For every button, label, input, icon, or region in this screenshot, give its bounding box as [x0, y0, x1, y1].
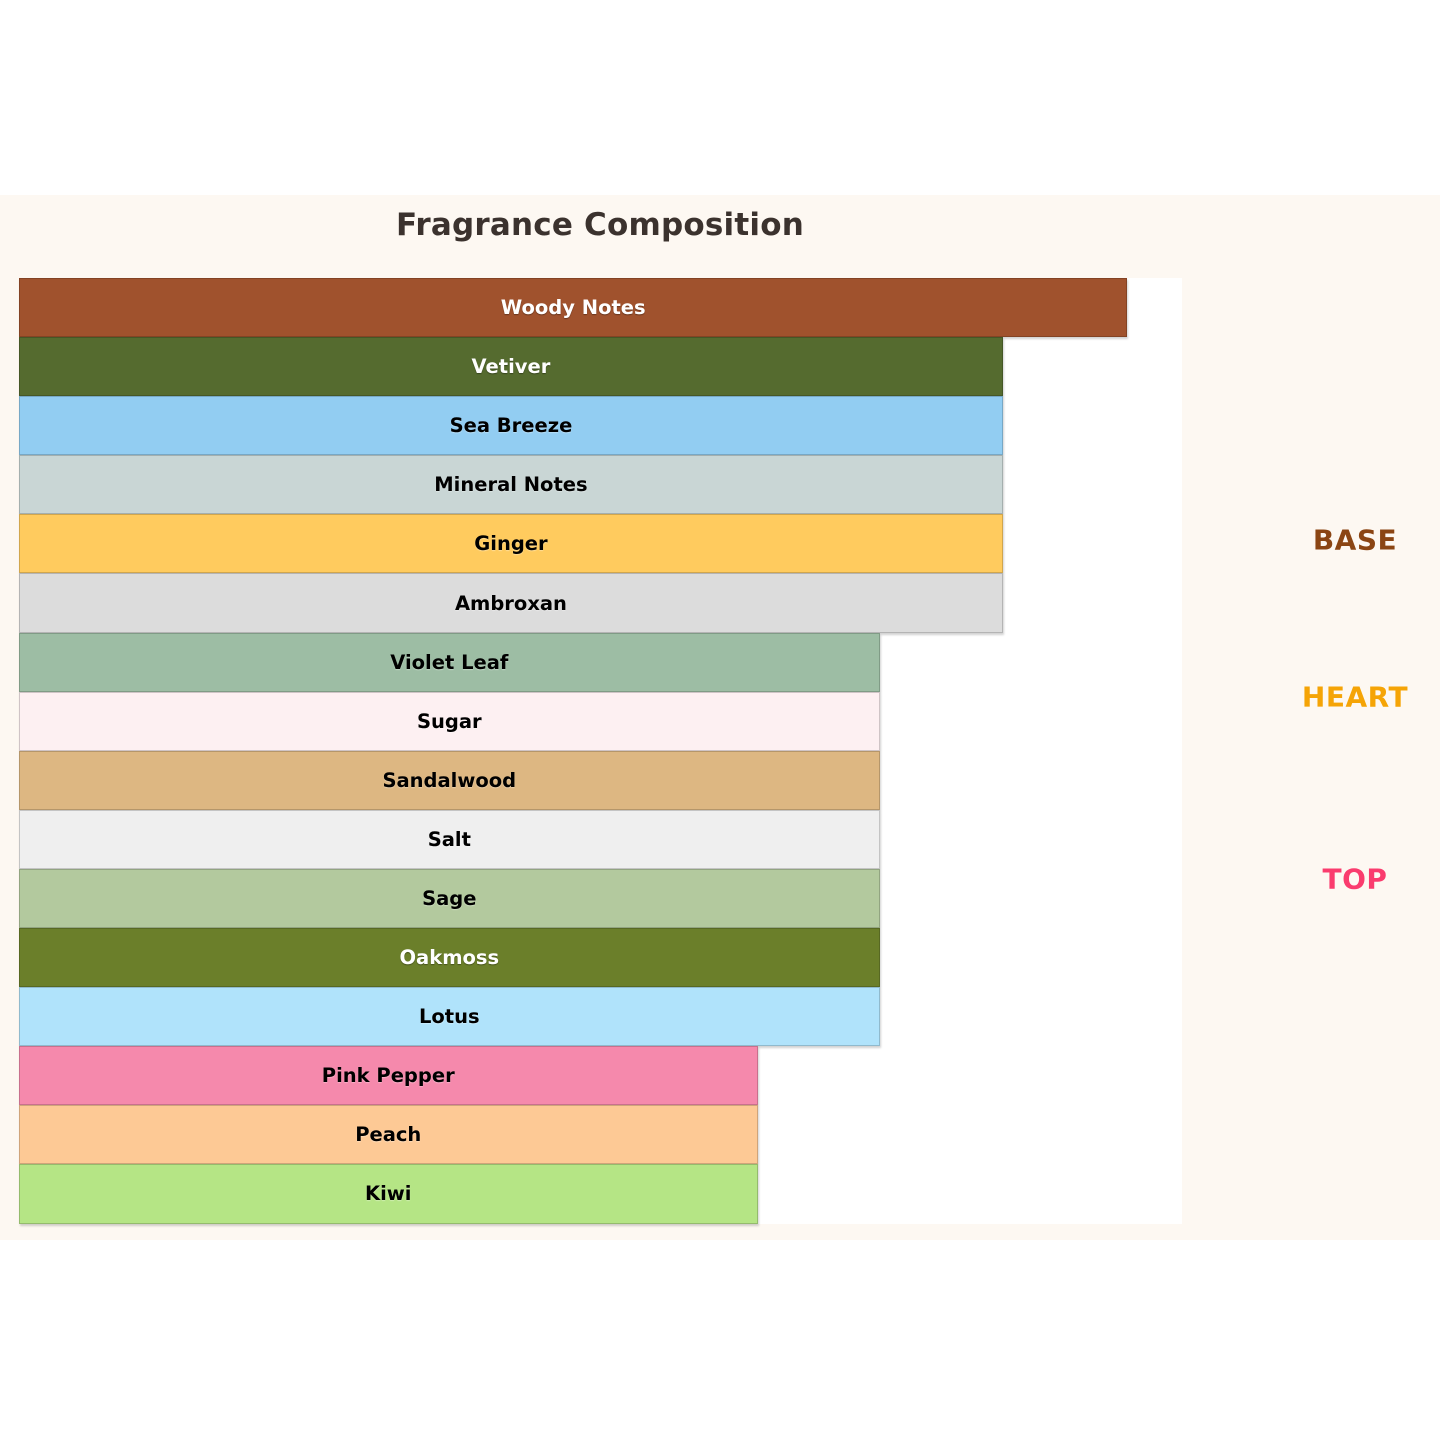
bar-row: Vetiver [19, 337, 1182, 396]
bar-row: Ginger [19, 514, 1182, 573]
bar-mineral-notes[interactable] [19, 455, 1003, 514]
bar-ginger[interactable] [19, 514, 1003, 573]
bar-salt[interactable] [19, 810, 880, 869]
stage-label-base: BASE [1313, 523, 1397, 556]
bar-row: Sugar [19, 692, 1182, 751]
bar-sea-breeze[interactable] [19, 396, 1003, 455]
bar-pink-pepper[interactable] [19, 1046, 758, 1105]
bar-row: Mineral Notes [19, 455, 1182, 514]
bar-sugar[interactable] [19, 692, 880, 751]
bar-woody-notes[interactable] [19, 278, 1127, 337]
bar-ambroxan[interactable] [19, 573, 1003, 632]
bar-oakmoss[interactable] [19, 928, 880, 987]
chart-title: Fragrance Composition [0, 207, 1200, 243]
stage-label-heart: HEART [1302, 680, 1408, 713]
bar-sandalwood[interactable] [19, 751, 880, 810]
bar-kiwi[interactable] [19, 1164, 758, 1223]
bar-row: Salt [19, 810, 1182, 869]
bar-row: Oakmoss [19, 928, 1182, 987]
bar-row: Ambroxan [19, 573, 1182, 632]
bar-sage[interactable] [19, 869, 880, 928]
bar-row: Pink Pepper [19, 1046, 1182, 1105]
bar-row: Kiwi [19, 1164, 1182, 1223]
bar-row: Sea Breeze [19, 396, 1182, 455]
bar-peach[interactable] [19, 1105, 758, 1164]
bar-vetiver[interactable] [19, 337, 1003, 396]
bar-row: Violet Leaf [19, 633, 1182, 692]
bar-row: Peach [19, 1105, 1182, 1164]
chart-figure: Fragrance Composition Woody NotesVetiver… [0, 195, 1440, 1240]
plot-area: Woody NotesVetiverSea BreezeMineral Note… [19, 278, 1182, 1224]
bar-row: Lotus [19, 987, 1182, 1046]
stage-label-top: TOP [1323, 863, 1388, 896]
bar-row: Sage [19, 869, 1182, 928]
bar-row: Sandalwood [19, 751, 1182, 810]
bar-lotus[interactable] [19, 987, 880, 1046]
bar-row: Woody Notes [19, 278, 1182, 337]
bar-violet-leaf[interactable] [19, 633, 880, 692]
